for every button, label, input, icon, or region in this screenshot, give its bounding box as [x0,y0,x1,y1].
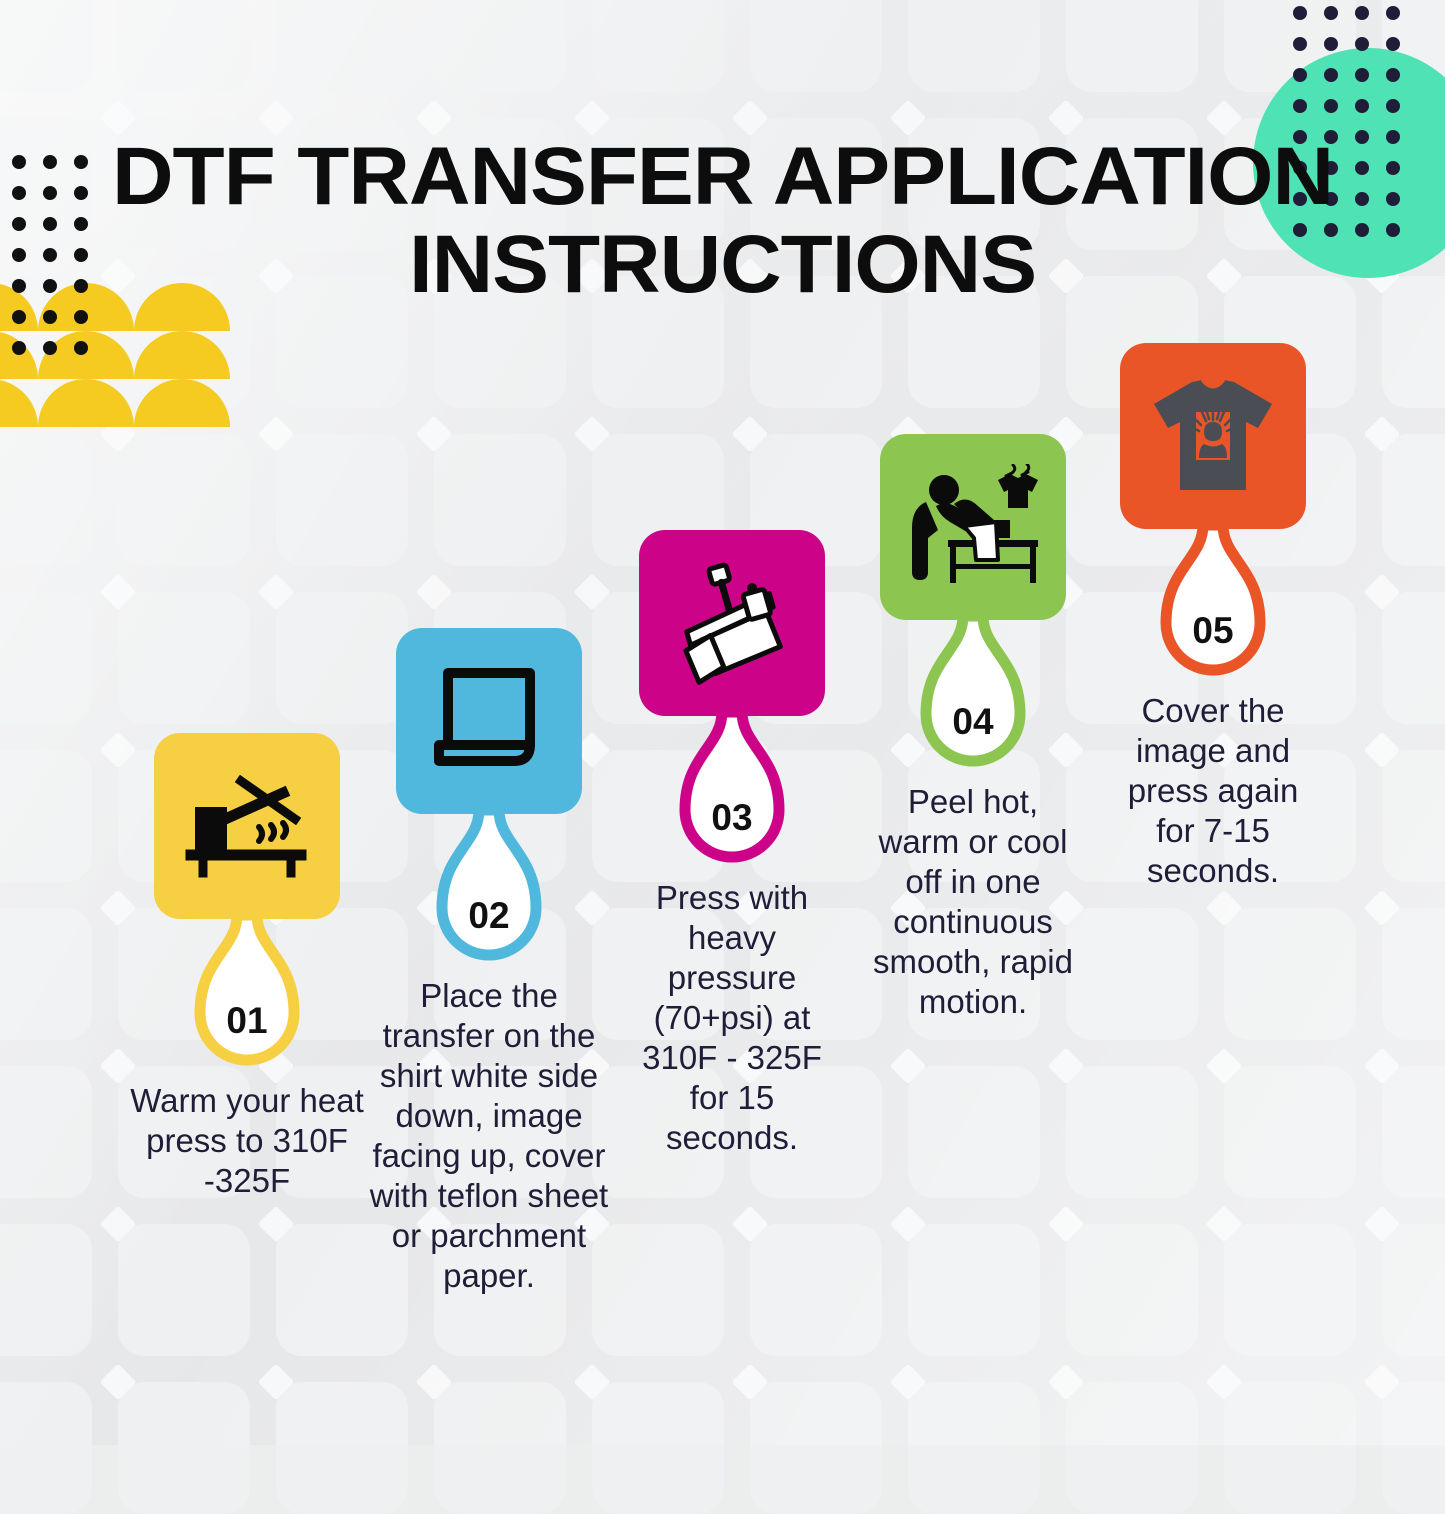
step-03[interactable]: 03 Press with heavy pressure (70+psi) at… [607,530,857,1158]
step-02-connector: 02 [424,814,554,966]
step-01-icon-card[interactable] [154,733,340,919]
transfer-sheet-icon [431,663,547,779]
step-05-text: Cover the image and press again for 7-15… [1106,691,1321,891]
step-01-number: 01 [182,991,312,1051]
step-01-connector: 01 [182,919,312,1071]
peel-transfer-person-icon [902,464,1044,590]
step-05-icon-card[interactable] [1120,343,1306,529]
step-03-number: 03 [667,788,797,848]
step-02-icon-card[interactable] [396,628,582,814]
step-01-text: Warm your heat press to 310F -325F [125,1081,370,1201]
step-03-text: Press with heavy pressure (70+psi) at 31… [625,878,840,1158]
step-02[interactable]: 02 Place the transfer on the shirt white… [364,628,614,1296]
step-04-number: 04 [908,692,1038,752]
step-02-text: Place the transfer on the shirt white si… [367,976,612,1296]
step-05[interactable]: 05 Cover the image and press again for 7… [1088,343,1338,891]
page-title-line-1: DTF TRANSFER APPLICATION [0,133,1445,221]
step-05-number: 05 [1148,601,1278,661]
step-01[interactable]: 01 Warm your heat press to 310F -325F [122,733,372,1201]
page-title-line-2: INSTRUCTIONS [0,221,1445,309]
step-04-connector: 04 [908,620,1038,772]
step-03-icon-card[interactable] [639,530,825,716]
page-title: DTF TRANSFER APPLICATION INSTRUCTIONS [0,133,1445,309]
step-04-icon-card[interactable] [880,434,1066,620]
step-03-connector: 03 [667,716,797,868]
step-02-number: 02 [424,886,554,946]
step-05-connector: 05 [1148,529,1278,681]
step-04-text: Peel hot, warm or cool off in one contin… [866,782,1081,1022]
heat-press-machine-icon [668,559,796,687]
printed-tshirt-icon [1148,374,1278,498]
step-04[interactable]: 04 Peel hot, warm or cool off in one con… [848,434,1098,1022]
heat-press-open-icon [183,767,311,885]
